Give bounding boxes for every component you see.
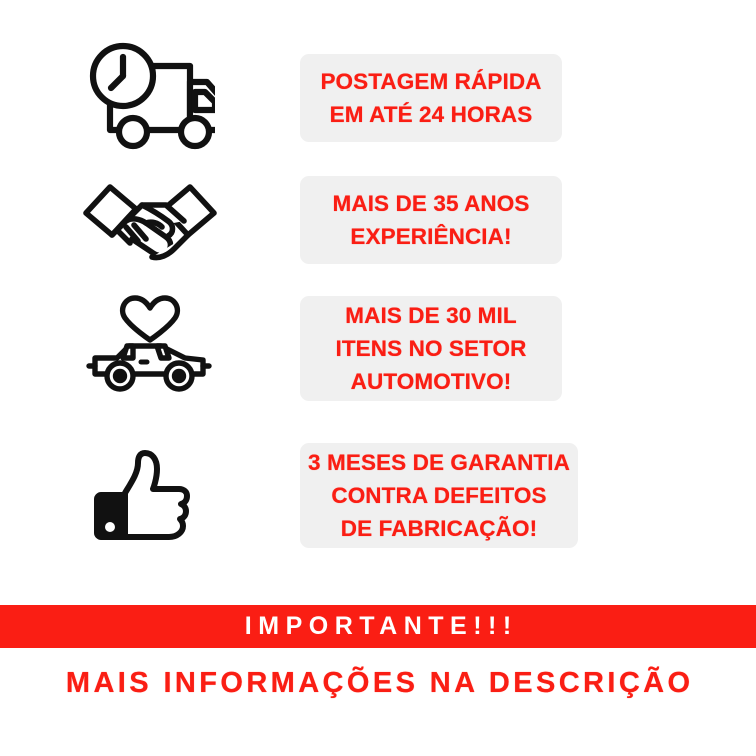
callout-shipping: POSTAGEM RÁPIDA EM ATÉ 24 HORAS (300, 54, 562, 142)
callout-line: CONTRA DEFEITOS (331, 479, 546, 512)
callout-line: DE FABRICAÇÃO! (341, 512, 537, 545)
benefits-list: POSTAGEM RÁPIDA EM ATÉ 24 HORAS (0, 0, 756, 594)
benefit-row-experience: MAIS DE 35 ANOS EXPERIÊNCIA! (0, 152, 756, 287)
callout-line: ITENS NO SETOR (335, 332, 526, 365)
callout-experience: MAIS DE 35 ANOS EXPERIÊNCIA! (300, 176, 562, 264)
thumbs-up-icon (0, 439, 300, 551)
convertible-car-heart-icon (0, 292, 300, 404)
benefit-row-catalog: MAIS DE 30 MIL ITENS NO SETOR AUTOMOTIVO… (0, 278, 756, 418)
callout-catalog: MAIS DE 30 MIL ITENS NO SETOR AUTOMOTIVO… (300, 296, 562, 401)
benefit-text-catalog: MAIS DE 30 MIL ITENS NO SETOR AUTOMOTIVO… (300, 296, 562, 401)
callout-line: POSTAGEM RÁPIDA (320, 65, 541, 98)
callout-line: EXPERIÊNCIA! (350, 220, 511, 253)
callout-line: AUTOMOTIVO! (351, 365, 512, 398)
delivery-truck-clock-icon (0, 42, 300, 154)
benefit-text-warranty: 3 MESES DE GARANTIA CONTRA DEFEITOS DE F… (300, 443, 578, 548)
benefit-row-shipping: POSTAGEM RÁPIDA EM ATÉ 24 HORAS (0, 30, 756, 165)
benefit-text-experience: MAIS DE 35 ANOS EXPERIÊNCIA! (300, 176, 562, 264)
callout-line: 3 MESES DE GARANTIA (308, 446, 570, 479)
description-line: MAIS INFORMAÇÕES NA DESCRIÇÃO (0, 660, 756, 706)
description-label: MAIS INFORMAÇÕES NA DESCRIÇÃO (63, 667, 694, 700)
promo-banner-page: POSTAGEM RÁPIDA EM ATÉ 24 HORAS (0, 0, 756, 756)
callout-warranty: 3 MESES DE GARANTIA CONTRA DEFEITOS DE F… (300, 443, 578, 548)
callout-line: MAIS DE 35 ANOS (333, 187, 530, 220)
callout-line: EM ATÉ 24 HORAS (330, 98, 533, 131)
important-banner: IMPORTANTE!!! (0, 605, 756, 648)
callout-line: MAIS DE 30 MIL (345, 299, 516, 332)
benefit-row-warranty: 3 MESES DE GARANTIA CONTRA DEFEITOS DE F… (0, 425, 756, 565)
important-label: IMPORTANTE!!! (238, 612, 517, 641)
benefit-text-shipping: POSTAGEM RÁPIDA EM ATÉ 24 HORAS (300, 54, 562, 142)
handshake-icon (0, 165, 300, 275)
